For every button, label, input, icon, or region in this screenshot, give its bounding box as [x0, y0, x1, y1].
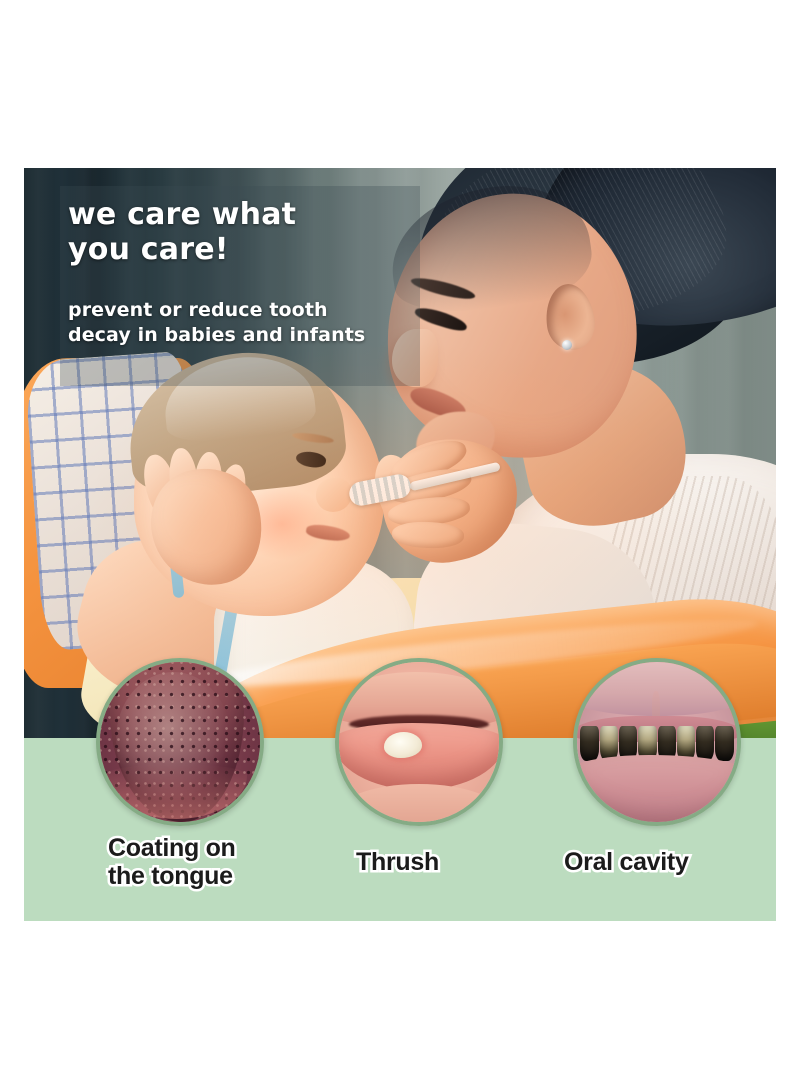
symptom-label-coating-on-the-tongue: Coating on the tongue — [108, 834, 236, 890]
tooth — [696, 726, 714, 761]
thrush-photo — [339, 662, 499, 822]
headline-block: we care what you care! prevent or reduce… — [68, 198, 428, 348]
tongue-photo — [100, 662, 260, 822]
page-title: we care what you care! — [68, 198, 428, 268]
symptom-label-oral-cavity: Oral cavity — [564, 848, 689, 876]
page-subtitle: prevent or reduce tooth decay in babies … — [68, 298, 428, 348]
symptom-label-thrush: Thrush — [356, 848, 439, 876]
lifestyle-photo-scene: we care what you care! prevent or reduce… — [24, 168, 776, 738]
oral-cavity-photo — [577, 662, 737, 822]
product-infographic-card: we care what you care! prevent or reduce… — [24, 168, 776, 921]
tooth — [715, 726, 733, 761]
symptom-image-coating-on-the-tongue — [96, 658, 264, 826]
page-root: we care what you care! prevent or reduce… — [0, 0, 800, 1091]
tooth — [580, 726, 598, 761]
symptom-image-oral-cavity — [573, 658, 741, 826]
symptom-image-thrush — [335, 658, 503, 826]
